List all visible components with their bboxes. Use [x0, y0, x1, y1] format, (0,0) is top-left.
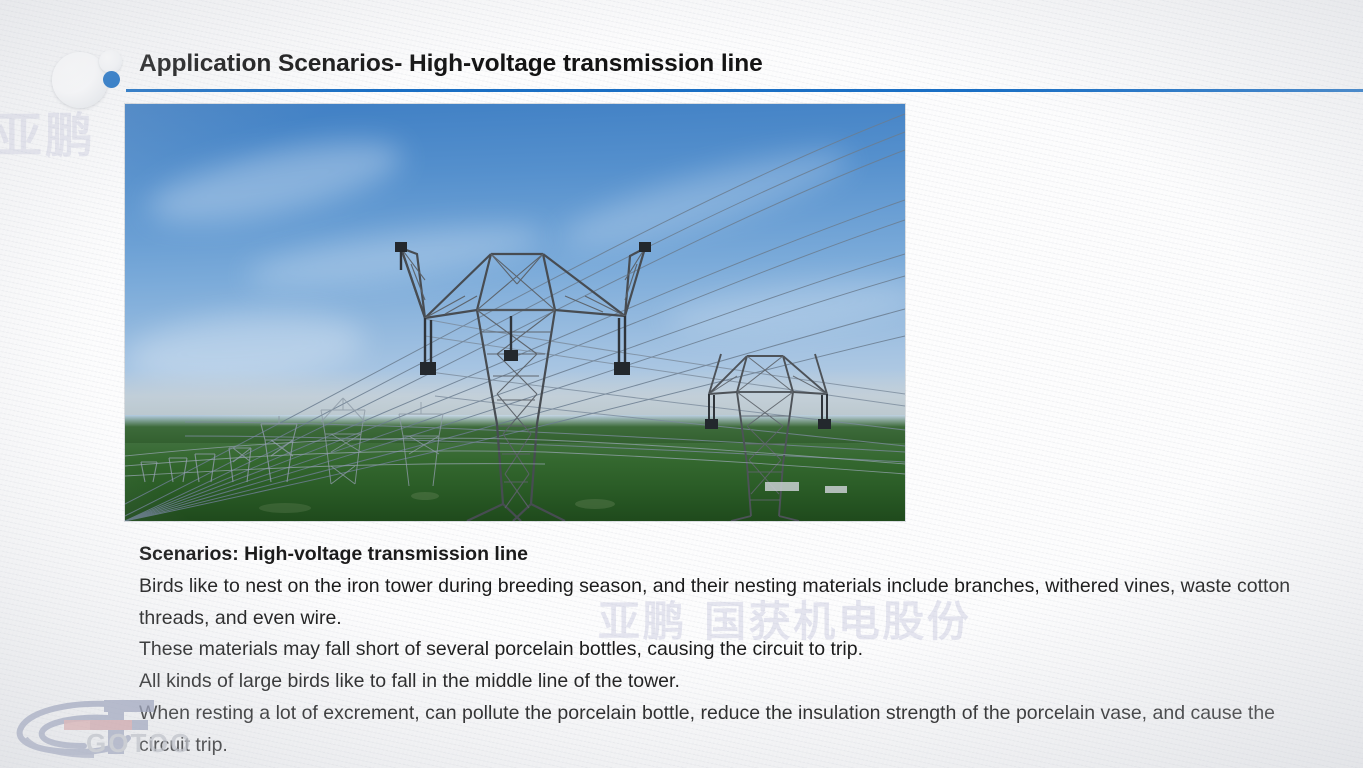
scenarios-heading: Scenarios: High-voltage transmission lin…: [139, 539, 1299, 571]
paragraph-2: These materials may fall short of severa…: [139, 634, 1299, 666]
title-underline-rule: [126, 89, 1363, 92]
logo-wordmark: GOTOO: [86, 728, 192, 759]
small-circle-icon: [99, 50, 122, 73]
blue-dot-icon: [103, 71, 120, 88]
paragraph-4: When resting a lot of excrement, can pol…: [139, 698, 1299, 762]
page-title: Application Scenarios- High-voltage tran…: [139, 50, 763, 78]
presentation-slide: 亚鹏 国获机展 郝亚 国获机股 郝亚鹏 国获机展公 亚鹏 国获机电股份 Appl…: [0, 0, 1363, 768]
photo-tower-overlay: [125, 104, 905, 521]
transmission-line-photo: [125, 104, 905, 521]
paragraph-1: Birds like to nest on the iron tower dur…: [139, 571, 1299, 635]
paragraph-3: All kinds of large birds like to fall in…: [139, 666, 1299, 698]
company-logo: GOTOO: [8, 694, 184, 762]
body-copy: Scenarios: High-voltage transmission lin…: [139, 539, 1299, 762]
